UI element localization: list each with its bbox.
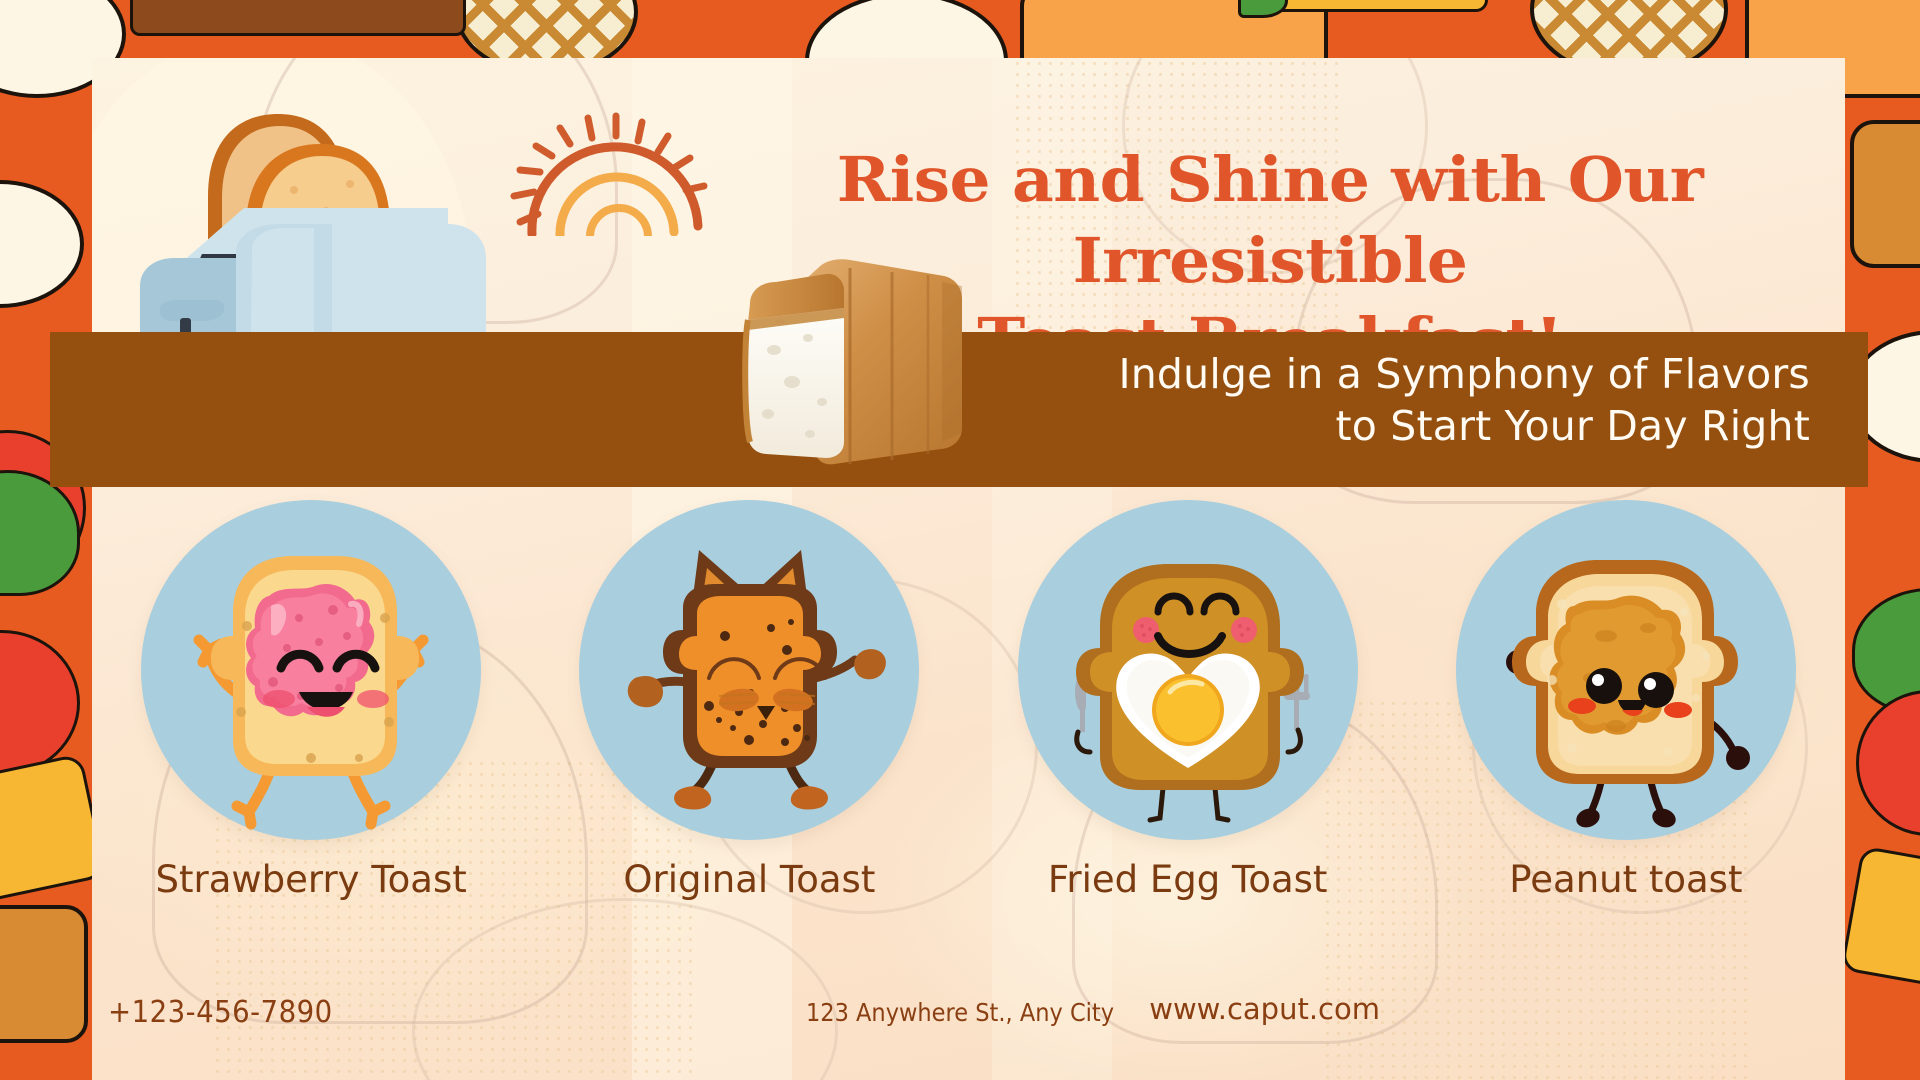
poster-root: Rise and Shine with Our Irresistible Toa… xyxy=(0,0,1920,1080)
product-label: Fried Egg Toast xyxy=(1048,858,1328,901)
product-item[interactable]: Original Toast xyxy=(530,500,968,920)
original-toast-character xyxy=(579,500,919,840)
corn-icon xyxy=(1262,0,1488,12)
contact-address: 123 Anywhere St., Any City xyxy=(96,998,1824,1027)
product-label: Strawberry Toast xyxy=(156,858,467,901)
tomato-icon xyxy=(1856,690,1920,836)
tomato-icon xyxy=(0,630,80,776)
subtitle-text: Indulge in a Symphony of Flavors to Star… xyxy=(980,348,1810,453)
subtitle-line-2: to Start Your Day Right xyxy=(980,400,1810,452)
product-disc xyxy=(579,500,919,840)
fried-egg-toast-character xyxy=(1018,500,1358,840)
product-item[interactable]: Strawberry Toast xyxy=(92,500,530,920)
contact-website[interactable]: www.caput.com xyxy=(1149,992,1380,1026)
product-disc xyxy=(1018,500,1358,840)
product-label: Original Toast xyxy=(623,858,875,901)
subtitle-line-1: Indulge in a Symphony of Flavors xyxy=(980,348,1810,400)
bread-loaf-photo xyxy=(722,242,970,478)
product-disc xyxy=(141,500,481,840)
cheese-icon xyxy=(1840,846,1920,1001)
product-disc xyxy=(1456,500,1796,840)
bread-icon xyxy=(0,905,88,1043)
peanut-toast-character xyxy=(1456,500,1796,840)
product-item[interactable]: Fried Egg Toast xyxy=(969,500,1407,920)
strawberry-toast-character xyxy=(141,500,481,840)
product-row: Strawberry Toast xyxy=(92,500,1845,920)
product-item[interactable]: Peanut toast xyxy=(1407,500,1845,920)
crust-icon xyxy=(130,0,466,36)
bun-icon xyxy=(0,180,84,308)
product-label: Peanut toast xyxy=(1509,858,1742,901)
